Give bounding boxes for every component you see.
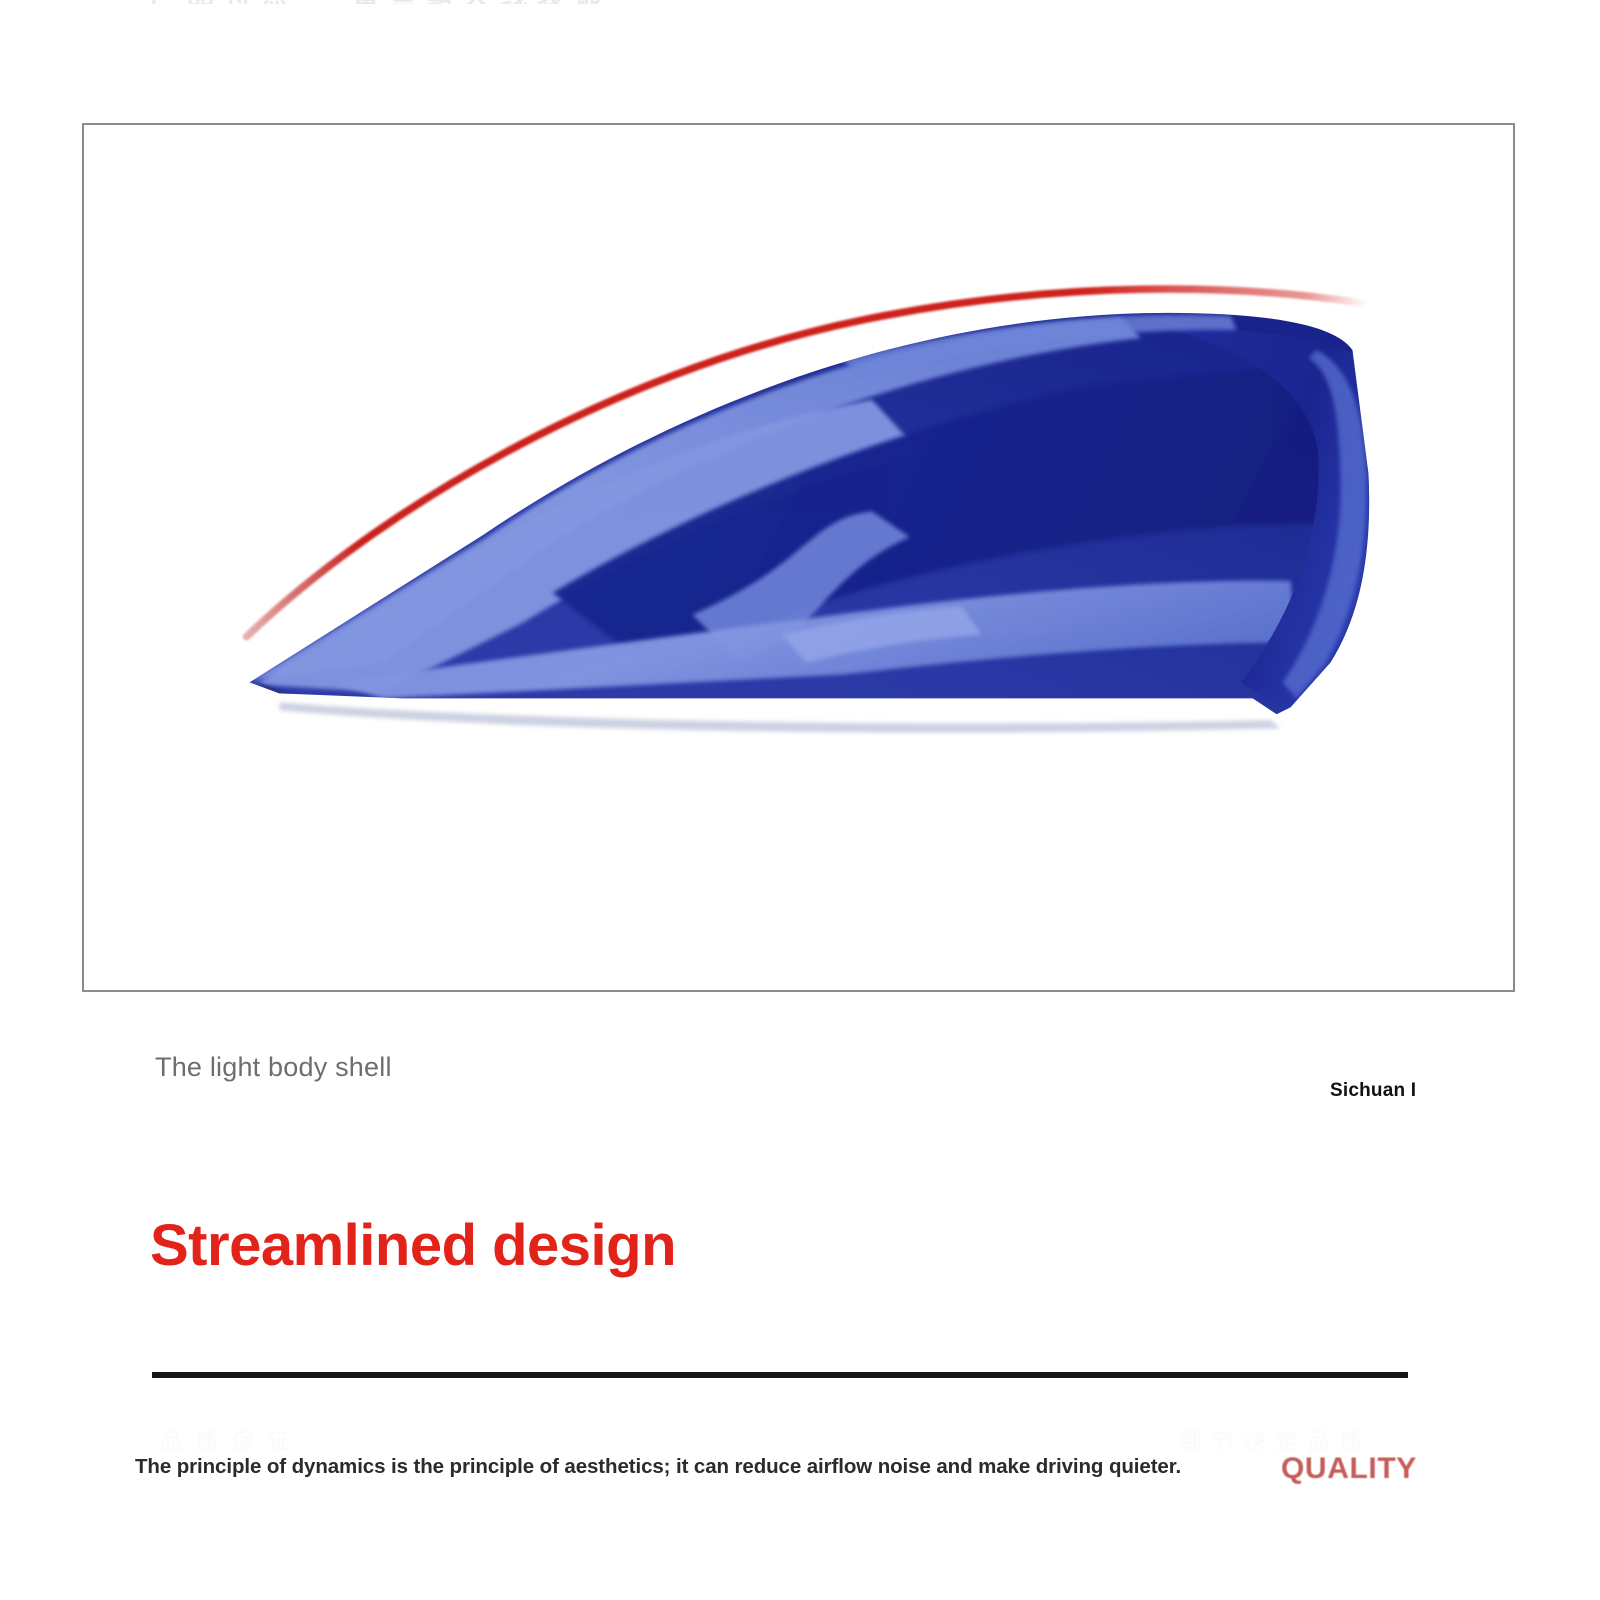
image-caption-row: The light body shell Sichuan I bbox=[0, 1052, 1600, 1112]
ghost-watermark-left: 品质保证 bbox=[160, 1424, 304, 1456]
divider-rule bbox=[152, 1372, 1408, 1378]
footer-row: The principle of dynamics is the princip… bbox=[0, 1455, 1600, 1503]
brand-mark: Sichuan I bbox=[1330, 1080, 1416, 1102]
page-headline: Streamlined design bbox=[150, 1212, 676, 1279]
quality-wordmark: QUALITY bbox=[1281, 1452, 1417, 1486]
ghost-watermark-right: 细节决定品质 bbox=[1180, 1424, 1372, 1456]
top-clipped-heading: 产品特点 · 鲨鱼鳍天线装饰 bbox=[150, 0, 1430, 4]
shark-fin-antenna-photo bbox=[84, 125, 1513, 990]
footer-description: The principle of dynamics is the princip… bbox=[135, 1455, 1181, 1479]
light-body-shell-label: The light body shell bbox=[155, 1052, 392, 1083]
product-image-frame bbox=[82, 123, 1515, 992]
